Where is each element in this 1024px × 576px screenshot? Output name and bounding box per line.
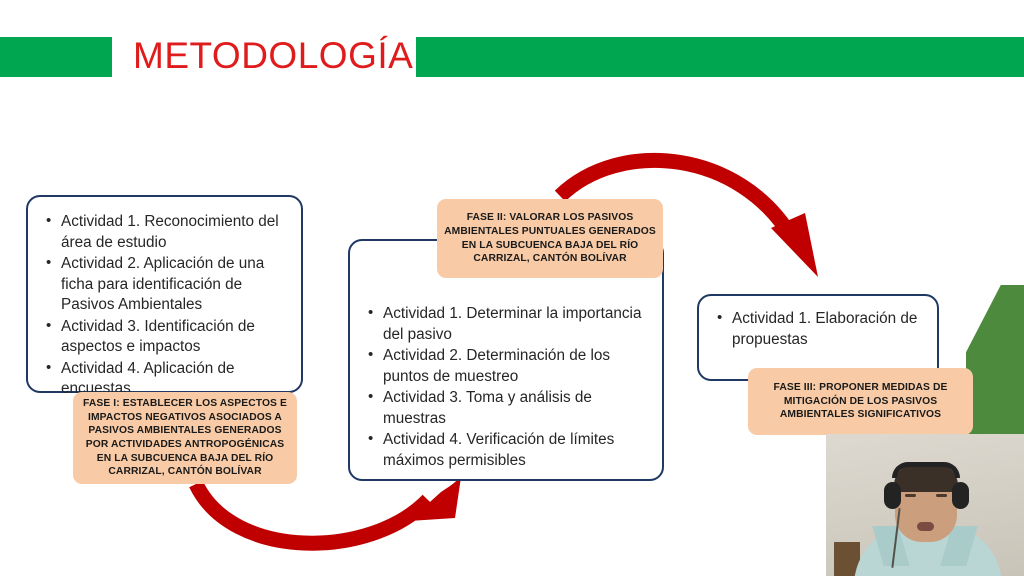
- presenter-video-overlay[interactable]: [826, 434, 1024, 576]
- page-title: METODOLOGÍA: [133, 33, 413, 79]
- headphone-cup-right-icon: [952, 482, 969, 509]
- decorative-green-wedge: [966, 285, 1024, 445]
- activity-list: Actividad 1. Elaboración de propuestas: [699, 296, 937, 350]
- headphone-cup-left-icon: [884, 482, 901, 509]
- list-item: Actividad 1. Determinar la importancia d…: [366, 304, 654, 345]
- list-item: Actividad 2. Determinación de los puntos…: [366, 346, 654, 387]
- phase-label-fase-3: FASE III: PROPONER MEDIDAS DE MITIGACIÓN…: [748, 368, 973, 435]
- presenter-eye-left: [905, 494, 916, 497]
- header-accent-bar-left: [0, 37, 112, 77]
- presenter-eye-right: [936, 494, 947, 497]
- header-accent-bar-right: [416, 37, 1024, 77]
- list-item: Actividad 3. Identificación de aspectos …: [44, 317, 291, 358]
- list-item: Actividad 3. Toma y análisis de muestras: [366, 388, 654, 429]
- phase-label-text: FASE II: VALORAR LOS PASIVOS AMBIENTALES…: [437, 211, 663, 265]
- presenter-mouth: [917, 522, 934, 531]
- slide-canvas: METODOLOGÍA Actividad 1. Reconocimiento …: [0, 0, 1024, 576]
- list-item: Actividad 1. Reconocimiento del área de …: [44, 212, 291, 253]
- phase-label-fase-1: FASE I: ESTABLECER LOS ASPECTOS E IMPACT…: [73, 392, 297, 484]
- phase-label-text: FASE III: PROPONER MEDIDAS DE MITIGACIÓN…: [748, 381, 973, 422]
- headphones-band-icon: [892, 462, 960, 478]
- phase-label-fase-2: FASE II: VALORAR LOS PASIVOS AMBIENTALES…: [437, 199, 663, 278]
- list-item: Actividad 1. Elaboración de propuestas: [715, 309, 929, 350]
- list-item: Actividad 4. Verificación de límites máx…: [366, 430, 654, 471]
- fase-1-activities-box: Actividad 1. Reconocimiento del área de …: [26, 195, 303, 393]
- activity-list: Actividad 1. Reconocimiento del área de …: [28, 197, 301, 400]
- list-item: Actividad 2. Aplicación de una ficha par…: [44, 254, 291, 316]
- phase-label-text: FASE I: ESTABLECER LOS ASPECTOS E IMPACT…: [73, 397, 297, 479]
